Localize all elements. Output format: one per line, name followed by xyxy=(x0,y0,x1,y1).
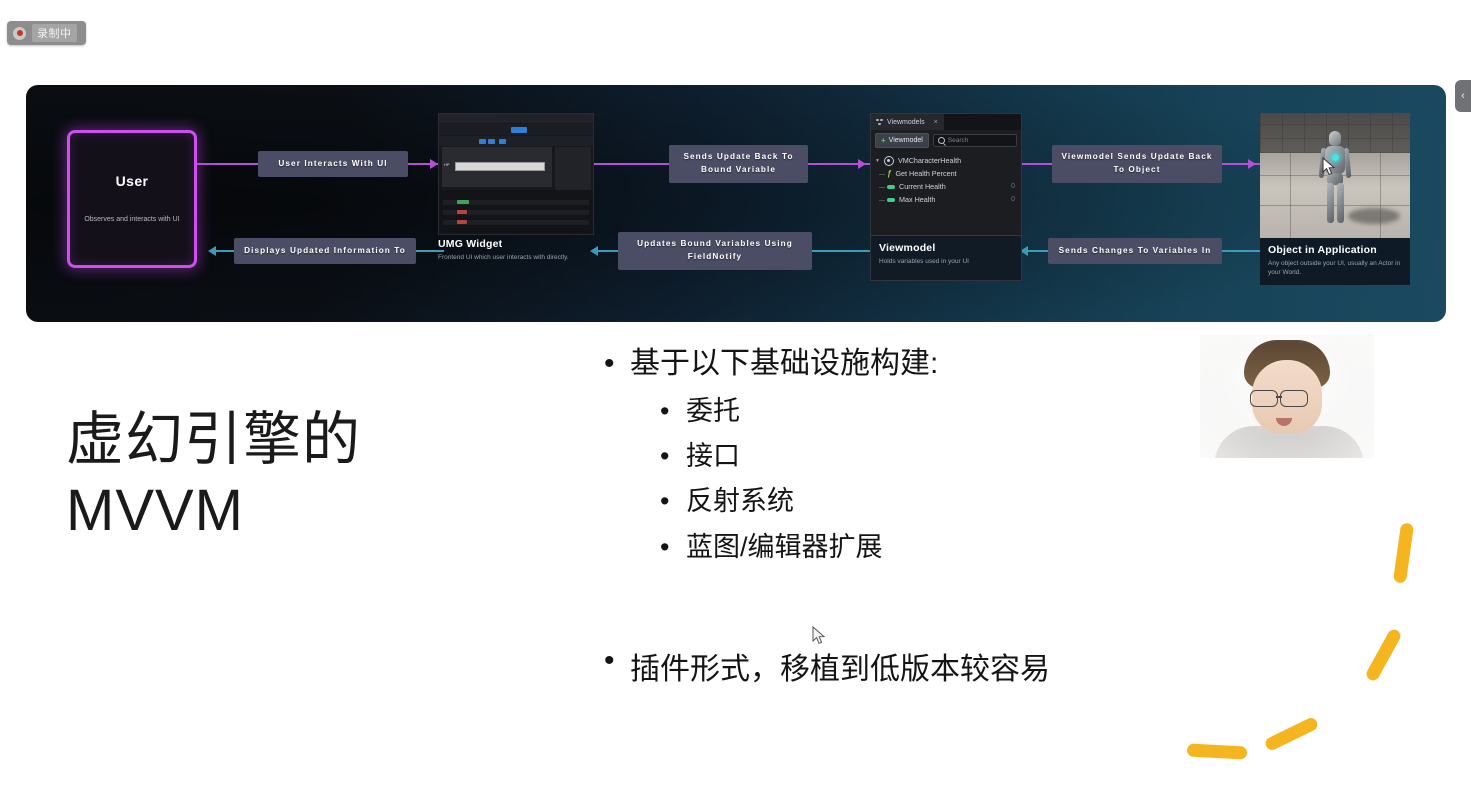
sub-bullet-item: • 反射系统 xyxy=(660,479,1244,524)
umg-bindings-panel xyxy=(439,190,593,234)
umg-tool-chip-2 xyxy=(488,139,495,144)
sub-bullet-text: 反射系统 xyxy=(686,479,794,524)
mannequin-head xyxy=(1329,131,1341,146)
bullet-marker: • xyxy=(604,644,630,688)
flow-label-updates-bound-variables: Updates Bound Variables Using FieldNotif… xyxy=(618,232,812,270)
bullet-marker: • xyxy=(660,434,686,479)
user-node-subtitle: Observes and interacts with UI xyxy=(84,215,179,224)
add-viewmodel-label: Viewmodel xyxy=(889,137,923,144)
plus-icon: + xyxy=(881,136,886,145)
bullet-marker: • xyxy=(660,479,686,524)
flow-line-label3-to-object xyxy=(1222,163,1264,165)
page-title-line1: 虚幻引擎的 xyxy=(66,405,496,476)
diagram-vignette xyxy=(26,85,1446,322)
tree-item-label: Max Health xyxy=(899,195,935,204)
bullet-marker: • xyxy=(660,525,686,570)
recording-label: 录制中 xyxy=(32,24,77,42)
mannequin-shadow xyxy=(1348,208,1400,224)
umg-widget-screenshot: HP xyxy=(438,113,594,235)
webcam-vignette xyxy=(1200,334,1374,458)
mannequin-leg-right xyxy=(1337,183,1344,223)
diagram-node-user: User Observes and interacts with UI xyxy=(67,130,197,268)
viewport-floor-line xyxy=(1380,153,1381,238)
flow-line-label5-to-umg xyxy=(596,250,618,252)
viewport-floor-line xyxy=(1290,153,1291,238)
umg-binding-chip-red xyxy=(457,210,467,214)
flow-line-object-to-label6 xyxy=(1222,250,1264,252)
tree-item-label: Current Health xyxy=(899,182,946,191)
viewmodel-tree: ▼ VMCharacterHealth ƒ Get Health Percent… xyxy=(871,151,1021,206)
flow-label-sends-update-back: Sends Update Back To Bound Variable xyxy=(669,145,808,183)
tree-item-max-health[interactable]: Max Health 0 xyxy=(875,193,1021,206)
sub-bullet-text: 蓝图/编辑器扩展 xyxy=(686,525,883,570)
tree-item-get-health-percent[interactable]: ƒ Get Health Percent xyxy=(875,167,1021,180)
add-viewmodel-button[interactable]: + Viewmodel xyxy=(875,133,929,148)
viewmodel-search-input[interactable]: Search xyxy=(933,134,1017,147)
tree-item-value: 0 xyxy=(1011,196,1015,203)
bullet-list: • 基于以下基础设施构建: • 委托 • 接口 • 反射系统 • 蓝图/编辑器扩… xyxy=(604,344,1244,570)
flow-arrow-to-viewmodel xyxy=(858,159,866,169)
tree-item-current-health[interactable]: Current Health 0 xyxy=(875,180,1021,193)
bullet-main: • 基于以下基础设施构建: xyxy=(604,344,1244,385)
object-icon xyxy=(884,156,894,166)
umg-compile-chip xyxy=(511,127,527,133)
decor-dash-2 xyxy=(1364,627,1403,682)
property-icon xyxy=(887,198,895,202)
search-placeholder: Search xyxy=(948,137,969,144)
viewmodels-tabbar: Viewmodels × xyxy=(871,114,1021,130)
sub-bullet-item: • 蓝图/编辑器扩展 xyxy=(660,525,1244,570)
function-icon: ƒ xyxy=(887,169,891,178)
webcam-overlay xyxy=(1200,334,1374,458)
flow-line-user-to-label1 xyxy=(191,163,258,165)
user-node-title: User xyxy=(116,173,149,189)
sub-bullet-item: • 接口 xyxy=(660,434,1244,479)
umg-titlebar xyxy=(439,114,593,123)
recording-badge: 录制中 xyxy=(7,21,86,45)
mvvm-flow-diagram: User Observes and interacts with UI User… xyxy=(26,85,1446,322)
umg-hp-label: HP xyxy=(444,162,450,167)
object-node-title: Object in Application xyxy=(1268,244,1402,256)
viewmodel-node-caption: Viewmodel Holds variables used in your U… xyxy=(871,235,1021,280)
umg-tool-chip-3 xyxy=(499,139,506,144)
flow-arrow-to-umg xyxy=(430,159,438,169)
umg-binding-chip-green xyxy=(457,200,469,204)
flow-line-umg-to-label2 xyxy=(592,163,669,165)
flow-label-user-interacts: User Interacts With UI xyxy=(258,151,408,177)
object-node-subtitle: Any object outside your UI, usually an A… xyxy=(1268,259,1402,278)
flow-line-label4-to-user xyxy=(215,250,234,252)
flow-arrow-to-object xyxy=(1248,159,1256,169)
bullet-marker: • xyxy=(660,389,686,434)
record-dot-icon xyxy=(13,27,26,40)
collapse-panel-button[interactable]: ‹ xyxy=(1455,80,1471,112)
umg-hp-progressbar xyxy=(455,162,545,171)
tree-item-label: Get Health Percent xyxy=(895,169,956,178)
viewmodels-toolbar: + Viewmodel Search xyxy=(871,130,1021,151)
search-icon xyxy=(938,137,945,144)
viewmodel-node-title: Viewmodel xyxy=(879,242,1013,254)
bullet-marker: • xyxy=(604,344,630,385)
mouse-cursor xyxy=(812,626,826,645)
viewmodel-tab-icon xyxy=(876,119,883,126)
chevron-down-icon[interactable]: ▼ xyxy=(875,158,880,164)
close-icon[interactable]: × xyxy=(934,119,938,126)
page-title: 虚幻引擎的 MVVM xyxy=(66,405,496,547)
bullet-main-text: 基于以下基础设施构建: xyxy=(630,344,938,385)
flow-line-vm-to-label5 xyxy=(812,250,870,252)
sub-bullet-item: • 委托 xyxy=(660,389,1244,434)
viewport-mouse-cursor xyxy=(1322,157,1336,176)
umg-node-subtitle: Frontend UI which user interacts with di… xyxy=(438,253,598,262)
decor-dash-4 xyxy=(1187,743,1248,759)
umg-secondary-toolbar xyxy=(439,136,593,146)
tree-item-label: VMCharacterHealth xyxy=(898,156,961,165)
property-icon xyxy=(887,185,895,189)
umg-binding-chip-red xyxy=(457,220,467,224)
umg-details-panel xyxy=(555,147,591,194)
flow-label-sends-changes: Sends Changes To Variables In xyxy=(1048,238,1222,264)
umg-node-title: UMG Widget xyxy=(438,238,598,250)
sub-bullet-text: 接口 xyxy=(686,434,740,479)
flow-label-viewmodel-sends-update: Viewmodel Sends Update Back To Object xyxy=(1052,145,1222,183)
flow-label-displays-updated: Displays Updated Information To xyxy=(234,238,416,264)
sub-bullet-text: 委托 xyxy=(686,389,740,434)
umg-node-caption: UMG Widget Frontend UI which user intera… xyxy=(438,238,598,262)
bullet-last-text: 插件形式，移植到低版本较容易 xyxy=(630,644,1050,688)
object-node-caption: Object in Application Any object outside… xyxy=(1260,238,1410,285)
umg-tool-chip-1 xyxy=(479,139,486,144)
tree-item-vmcharacterhealth[interactable]: ▼ VMCharacterHealth xyxy=(875,154,1021,167)
flow-line-vm-to-label3 xyxy=(1020,163,1052,165)
decor-dash-1 xyxy=(1393,522,1414,583)
page-title-line2: MVVM xyxy=(66,476,496,547)
decor-dash-3 xyxy=(1263,716,1319,752)
tab-viewmodels[interactable]: Viewmodels × xyxy=(871,114,944,130)
tree-item-value: 0 xyxy=(1011,183,1015,190)
tab-viewmodels-label: Viewmodels xyxy=(887,119,925,126)
flow-line-label6-to-vm xyxy=(1026,250,1048,252)
chevron-left-icon: ‹ xyxy=(1461,90,1465,102)
bullet-last: • 插件形式，移植到低版本较容易 xyxy=(604,644,1050,688)
mannequin-character xyxy=(1318,131,1352,223)
mannequin-leg-left xyxy=(1327,183,1334,223)
flow-arrow-to-user xyxy=(208,246,216,256)
viewmodels-panel: Viewmodels × + Viewmodel Search ▼ VMChar… xyxy=(870,113,1022,281)
viewmodel-node-subtitle: Holds variables used in your UI xyxy=(879,257,1013,266)
object-viewport-screenshot xyxy=(1260,113,1410,238)
